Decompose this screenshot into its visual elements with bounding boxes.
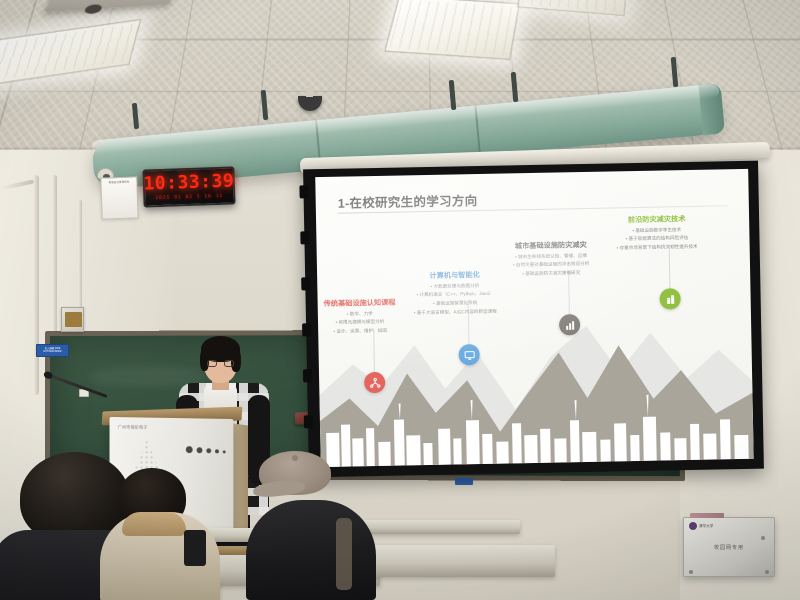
- network-icon: [369, 376, 381, 388]
- audience-cap-button: [292, 455, 298, 461]
- screen-edge-tab: [302, 323, 311, 336]
- marker-frontier[interactable]: [659, 288, 680, 309]
- column-bullet: 基础设施防灾减灾策略研究: [513, 270, 590, 278]
- building-icon: [664, 293, 676, 305]
- screen-edge-tab: [301, 277, 310, 290]
- wall-notice-sign: 教室安全管理须知: [100, 176, 138, 219]
- electrical-box-panel: [65, 312, 82, 327]
- column-heading: 传统基础设施认知课程: [324, 298, 396, 309]
- cabinet-logo: 清华大学: [689, 522, 713, 530]
- column-heading: 前沿防灾减灾技术: [616, 214, 697, 226]
- slide-column-traditional: 传统基础设施认知课程 数学、力学 有限元建模与模型分析 设计、运营、维护、加固: [324, 298, 397, 336]
- slide-column-computing: 计算机与智能化 大数据处理与数据分析 计算机语言（C++、Python、Java…: [413, 270, 497, 317]
- cabinet-label-strip: [690, 513, 724, 518]
- student-desk: [355, 545, 555, 577]
- presentation-slide: 1-在校研究生的学习方向: [315, 169, 753, 467]
- column-heading: 城市基础设施防灾减灾: [513, 240, 590, 251]
- wall-conduit: [33, 175, 39, 395]
- ceiling-light-panel: [384, 0, 520, 60]
- column-bullet: 存量市场背景下结构抗灾韧性提升技术: [617, 244, 698, 252]
- slide-column-urban: 城市基础设施防灾减灾 城市生命线系统认知、管理、运维 自然灾害对基础设施的冲击效…: [513, 240, 590, 278]
- cabinet-text-label: 校园网专用: [684, 544, 774, 551]
- lecture-hall-scene: 1-在校研究生的学习方向: [0, 0, 800, 600]
- screen-edge-tab: [299, 185, 308, 198]
- audience-fur-collar: [122, 512, 186, 536]
- cabinet-screw: [761, 536, 765, 540]
- chalkboard-marker-tag: [455, 478, 473, 485]
- audience-body: [246, 500, 376, 600]
- cabinet-screw: [689, 570, 693, 574]
- cabinet-brand-label: 清华大学: [699, 524, 713, 529]
- marker-stem: [669, 244, 671, 292]
- network-cabinet[interactable]: 清华大学 校园网专用: [683, 517, 775, 577]
- projector-screen[interactable]: 1-在校研究生的学习方向: [303, 161, 764, 478]
- university-logo-icon: [689, 522, 697, 530]
- cabinet-screw: [765, 570, 769, 574]
- electrical-box: [61, 307, 84, 332]
- fire-extinguisher-sign: 灭火器箱 FIRE EXTINGUISHER: [36, 344, 69, 357]
- student-desk: [360, 520, 520, 534]
- screen-edge-tab: [303, 369, 312, 382]
- presenter-glasses-icon: [207, 360, 234, 367]
- column-bullet: 城市生命线系统认知、管理、运维: [513, 253, 590, 261]
- column-bullet: 大数据处理与数据分析: [413, 282, 496, 290]
- slide-title: 1-在校研究生的学习方向: [338, 190, 478, 212]
- clock-time-display: 10:33:39: [143, 172, 234, 193]
- audience-backpack-strap: [336, 518, 352, 590]
- city-chart-icon: [564, 319, 576, 331]
- digital-wall-clock: 10:33:39 2025 01 02 5 16 11: [142, 166, 235, 207]
- column-bullet: 自然灾害对基础设施的冲击效应分析: [513, 261, 590, 269]
- screen-edge-tab: [300, 231, 309, 244]
- duct-seam: [474, 106, 481, 156]
- column-bullet: 数学、力学: [324, 310, 396, 318]
- monitor-icon: [463, 349, 475, 361]
- marker-stem: [568, 270, 570, 318]
- audience-bag: [184, 530, 206, 566]
- screen-edge-tab: [304, 415, 313, 428]
- column-bullet: 基础设施数字孪生技术: [616, 226, 697, 234]
- podium-control-holes: [186, 446, 226, 453]
- column-bullet: 基于智能算法的结构风险评估: [616, 235, 697, 243]
- clock-date-display: 2025 01 02 5 16 11: [155, 194, 223, 201]
- podium-brand-label: 广州市保伦电子: [118, 424, 148, 430]
- column-bullet: 计算机语言（C++、Python、Java）: [413, 291, 496, 299]
- slide-column-frontier: 前沿防灾减灾技术 基础设施数字孪生技术 基于智能算法的结构风险评估 存量市场背景…: [616, 214, 698, 252]
- column-bullet: 有限元建模与模型分析: [324, 319, 396, 327]
- column-heading: 计算机与智能化: [413, 270, 496, 282]
- duct-end-cap: [699, 83, 725, 135]
- column-bullet: 基础设施智慧化系统: [414, 300, 497, 308]
